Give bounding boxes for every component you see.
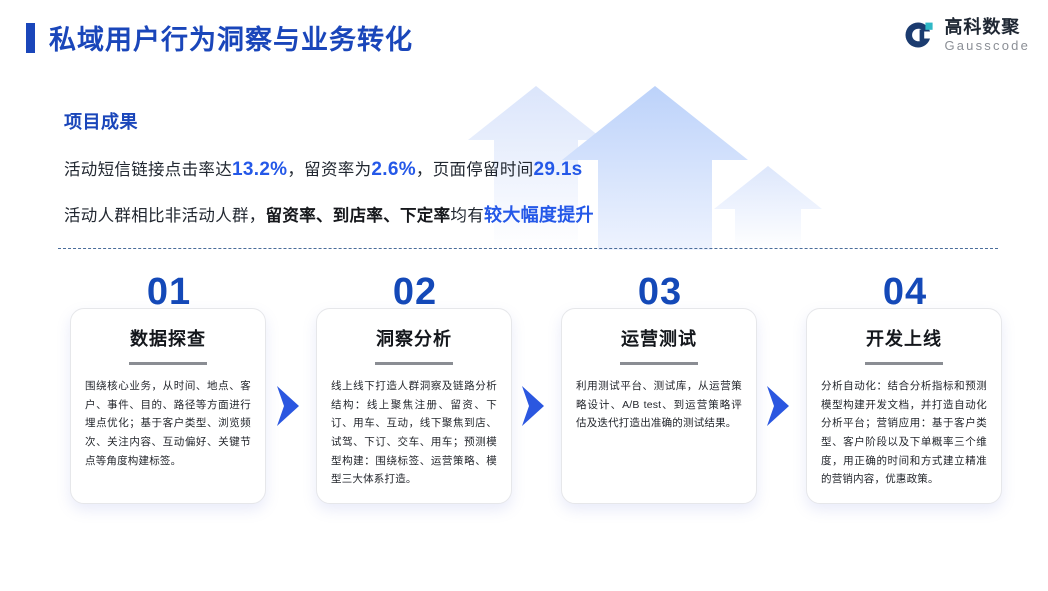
step-title-01: 数据探查 bbox=[85, 325, 251, 351]
steps-section: 01 数据探查 围绕核心业务，从时间、地点、客户、事件、目的、路径等方面进行埋点… bbox=[0, 272, 1048, 532]
results-line1-seg1: 活动短信链接点击率达 bbox=[64, 161, 232, 179]
title-accent-bar bbox=[26, 23, 35, 53]
step-number-02: 02 bbox=[317, 271, 513, 314]
step-body-04: 分析自动化：结合分析指标和预测模型构建开发文档，并打造自动化分析平台；营销应用：… bbox=[821, 377, 987, 489]
up-arrow-decor-right bbox=[714, 166, 822, 250]
step-number-03: 03 bbox=[562, 271, 758, 314]
brand-logo: 高科数聚 Gausscode bbox=[901, 18, 1030, 52]
step-title-02: 洞察分析 bbox=[331, 325, 497, 351]
results-heading: 项目成果 bbox=[64, 108, 594, 134]
step-title-04: 开发上线 bbox=[821, 325, 987, 351]
metric-click-rate: 13.2% bbox=[232, 159, 287, 180]
step-card-01[interactable]: 01 数据探查 围绕核心业务，从时间、地点、客户、事件、目的、路径等方面进行埋点… bbox=[70, 308, 266, 504]
page-title-wrap: 私域用户行为洞察与业务转化 bbox=[26, 18, 413, 57]
metric-lead-rate: 2.6% bbox=[371, 159, 416, 180]
step-title-03: 运营测试 bbox=[576, 325, 742, 351]
step-number-04: 04 bbox=[807, 271, 1003, 314]
chevron-right-icon-3 bbox=[764, 384, 792, 428]
results-line1-seg3: ，页面停留时间 bbox=[416, 161, 534, 179]
step-number-01: 01 bbox=[71, 271, 267, 314]
brand-name-cn: 高科数聚 bbox=[944, 18, 1030, 36]
results-line2-seg1: 活动人群相比非活动人群， bbox=[64, 207, 266, 225]
step-rule-02 bbox=[375, 362, 453, 365]
metric-dwell-time: 29.1s bbox=[534, 159, 583, 180]
step-rule-04 bbox=[865, 362, 943, 365]
results-line2-seg2: 均有 bbox=[450, 207, 484, 225]
results-line2-highlight: 较大幅度提升 bbox=[484, 205, 594, 225]
brand-name-en: Gausscode bbox=[944, 39, 1030, 52]
results-line-1: 活动短信链接点击率达13.2%，留资率为2.6%，页面停留时间29.1s bbox=[64, 156, 594, 181]
project-results-section: 项目成果 活动短信链接点击率达13.2%，留资率为2.6%，页面停留时间29.1… bbox=[64, 108, 594, 247]
step-body-01: 围绕核心业务，从时间、地点、客户、事件、目的、路径等方面进行埋点优化；基于客户类… bbox=[85, 377, 251, 470]
step-card-03[interactable]: 03 运营测试 利用测试平台、测试库，从运营策略设计、A/B test、到运营策… bbox=[561, 308, 757, 504]
step-rule-01 bbox=[129, 362, 207, 365]
step-body-02: 线上线下打造人群洞察及链路分析结构：线上聚焦注册、留资、下订、用车、互动，线下聚… bbox=[331, 377, 497, 489]
section-divider bbox=[58, 248, 998, 249]
step-rule-03 bbox=[620, 362, 698, 365]
results-line-2: 活动人群相比非活动人群，留资率、到店率、下定率均有较大幅度提升 bbox=[64, 201, 594, 227]
page-title: 私域用户行为洞察与业务转化 bbox=[49, 18, 413, 57]
results-line2-bold: 留资率、到店率、下定率 bbox=[266, 207, 451, 225]
chevron-right-icon-2 bbox=[519, 384, 547, 428]
results-line1-seg2: ，留资率为 bbox=[287, 161, 371, 179]
step-card-02[interactable]: 02 洞察分析 线上线下打造人群洞察及链路分析结构：线上聚焦注册、留资、下订、用… bbox=[316, 308, 512, 504]
page-header: 私域用户行为洞察与业务转化 高科数聚 Gausscode bbox=[0, 0, 1048, 80]
step-body-03: 利用测试平台、测试库，从运营策略设计、A/B test、到运营策略评估及迭代打造… bbox=[576, 377, 742, 433]
step-card-04[interactable]: 04 开发上线 分析自动化：结合分析指标和预测模型构建开发文档，并打造自动化分析… bbox=[806, 308, 1002, 504]
gausscode-logo-mark-icon bbox=[901, 18, 935, 52]
brand-logo-text: 高科数聚 Gausscode bbox=[944, 18, 1030, 52]
chevron-right-icon-1 bbox=[274, 384, 302, 428]
